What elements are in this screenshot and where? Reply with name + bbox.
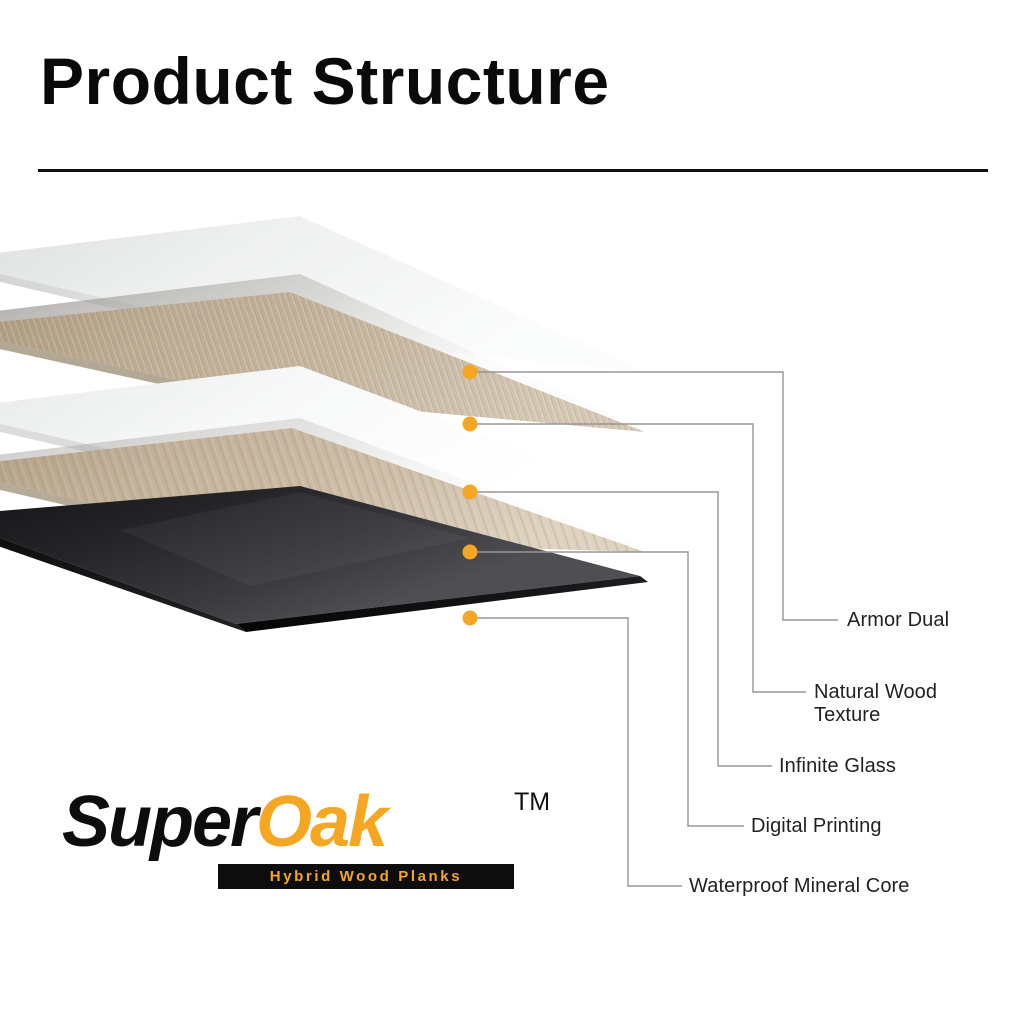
layer-waterproof-mineral-core [0, 486, 648, 632]
callout-label-waterproof-mineral-core: Waterproof Mineral Core [689, 875, 910, 898]
product-structure-page: Product Structure [0, 0, 1024, 1024]
trademark-symbol: TM [514, 788, 550, 817]
exploded-layer-stack [0, 200, 700, 720]
callout-label-infinite-glass: Infinite Glass [779, 755, 896, 778]
logo-word-primary: Super [62, 782, 256, 862]
page-title: Product Structure [40, 48, 610, 114]
logo-wordmark: SuperOak [62, 786, 386, 858]
title-divider [38, 169, 988, 172]
callout-label-digital-printing: Digital Printing [751, 815, 882, 838]
brand-logo: SuperOak TM Hybrid Wood Planks [62, 786, 562, 896]
logo-tagline-bar: Hybrid Wood Planks [218, 864, 514, 889]
callout-label-armor-dual: Armor Dual [847, 609, 949, 632]
callout-label-natural-wood-texture: Natural Wood Texture [814, 681, 937, 727]
logo-tagline: Hybrid Wood Planks [270, 868, 462, 885]
logo-word-accent: Oak [256, 782, 386, 862]
